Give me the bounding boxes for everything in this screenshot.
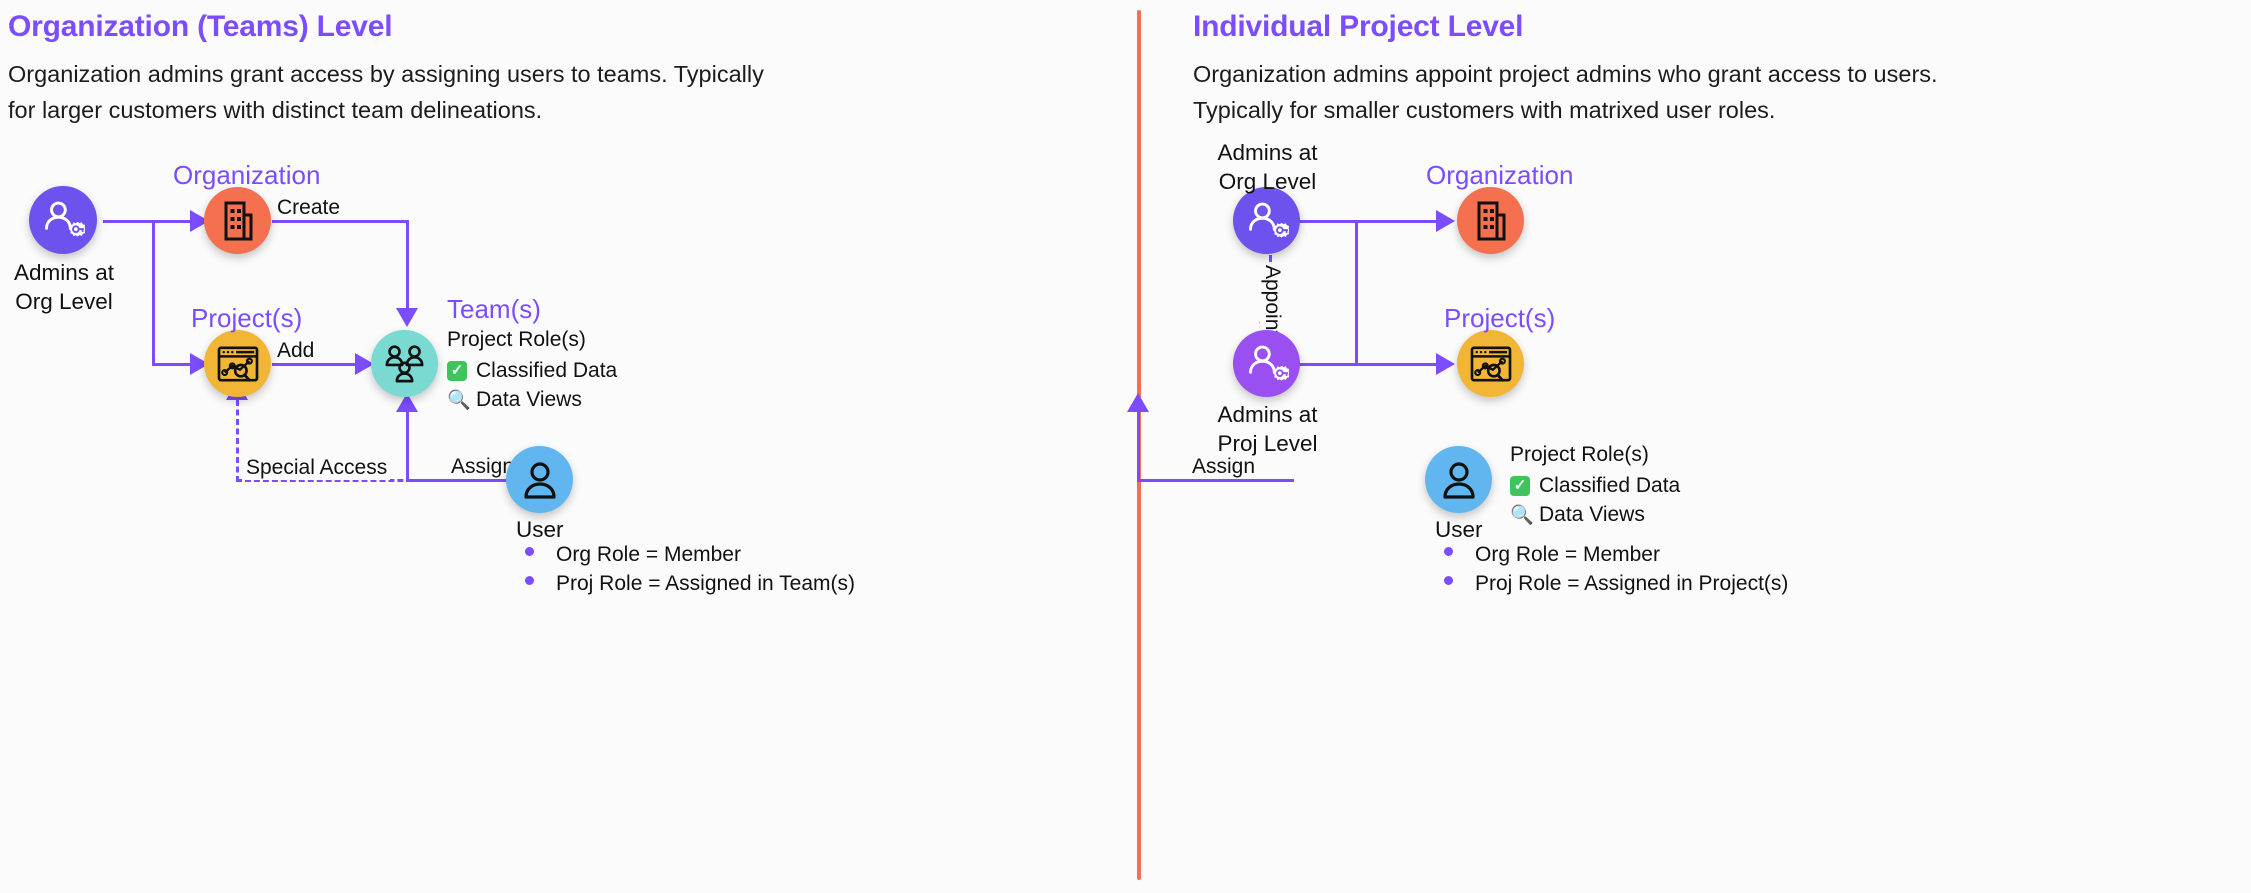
node-user[interactable]: [1425, 446, 1492, 513]
project-roles-title: Project Role(s): [447, 328, 617, 352]
bullet-org-role: Org Role = Member: [525, 543, 855, 567]
teams-project-roles: Project Role(s) ✓ Classified Data 🔍 Data…: [447, 328, 617, 417]
edge-label-special-access: Special Access: [243, 456, 390, 480]
user-bullets: Org Role = Member Proj Role = Assigned i…: [525, 543, 855, 601]
role-label: Data Views: [1539, 503, 1645, 527]
role-label: Classified Data: [476, 359, 617, 383]
edge-org-create-v: [406, 220, 409, 315]
arrow-trunk-to-project: [1436, 353, 1455, 375]
user-bullets: Org Role = Member Proj Role = Assigned i…: [1444, 543, 1788, 601]
node-admins-org-level[interactable]: [29, 186, 97, 254]
caption-admins-org-level: Admins at Org Level: [1175, 138, 1360, 196]
label-organization: Organization: [1426, 160, 1573, 191]
edge-special-access-v: [236, 400, 239, 482]
single-person-icon: [1441, 460, 1477, 500]
bullet-text: Proj Role = Assigned in Team(s): [556, 572, 855, 596]
admin-gear-key-icon: [1245, 342, 1289, 386]
bullet-dot-icon: [1444, 576, 1453, 585]
node-organization[interactable]: [204, 187, 271, 254]
edge-admin-to-org: [152, 220, 195, 223]
left-panel-description: Organization admins grant access by assi…: [8, 56, 1098, 128]
role-row-classified-data: ✓ Classified Data: [447, 359, 617, 383]
individual-project-panel: Individual Project Level Organization ad…: [1185, 0, 2251, 893]
edge-projadmin-to-project: [1288, 363, 1443, 366]
role-label: Classified Data: [1539, 474, 1680, 498]
arrow-assign-to-project: [1127, 393, 1149, 412]
node-user[interactable]: [506, 446, 573, 513]
bullet-dot-icon: [525, 576, 534, 585]
caption-admins-org-level: Admins at Org Level: [0, 258, 128, 316]
left-panel-title: Organization (Teams) Level: [8, 10, 392, 44]
node-projects[interactable]: [1457, 330, 1524, 397]
edge-orgadmin-trunk: [1288, 220, 1438, 223]
green-check-icon: ✓: [1510, 476, 1530, 496]
right-panel-title: Individual Project Level: [1193, 10, 1523, 44]
edge-label-add: Add: [274, 339, 317, 363]
node-admins-proj-level[interactable]: [1233, 330, 1300, 397]
building-icon: [1473, 201, 1509, 241]
bullet-text: Org Role = Member: [556, 543, 741, 567]
diagram-canvas: Organization (Teams) Level Organization …: [0, 0, 2251, 893]
role-row-data-views: 🔍 Data Views: [1510, 503, 1680, 527]
caption-admins-proj-level: Admins at Proj Level: [1175, 400, 1360, 458]
bullet-proj-role: Proj Role = Assigned in Project(s): [1444, 572, 1788, 596]
organization-teams-panel: Organization (Teams) Level Organization …: [0, 0, 1137, 893]
edge-user-assign-v: [406, 412, 409, 482]
bullet-text: Org Role = Member: [1475, 543, 1660, 567]
project-analytics-icon: [216, 345, 260, 383]
single-person-icon: [522, 460, 558, 500]
admin-gear-key-icon: [1245, 199, 1289, 243]
project-roles-title: Project Role(s): [1510, 443, 1680, 467]
user-project-roles: Project Role(s) ✓ Classified Data 🔍 Data…: [1510, 443, 1680, 532]
edge-label-appoint: Appoint: [1260, 262, 1284, 339]
green-check-icon: ✓: [447, 361, 467, 381]
arrow-orgadmin-to-org: [1436, 210, 1455, 232]
node-admins-org-level[interactable]: [1233, 187, 1300, 254]
edge-admin-to-project: [152, 363, 195, 366]
role-label: Data Views: [476, 388, 582, 412]
edge-user-assign-h: [1137, 479, 1294, 482]
bullet-proj-role: Proj Role = Assigned in Team(s): [525, 572, 855, 596]
node-teams[interactable]: [371, 330, 438, 397]
bullet-org-role: Org Role = Member: [1444, 543, 1788, 567]
node-organization[interactable]: [1457, 187, 1524, 254]
edge-orgadmin-vertical: [1355, 220, 1358, 363]
three-people-icon: [383, 344, 427, 384]
bullet-text: Proj Role = Assigned in Project(s): [1475, 572, 1788, 596]
right-panel-description: Organization admins appoint project admi…: [1193, 56, 2243, 128]
edge-label-assign: Assign: [1189, 455, 1258, 479]
edge-admin-vertical: [152, 220, 155, 363]
edge-project-add: [272, 363, 360, 366]
role-row-classified-data: ✓ Classified Data: [1510, 474, 1680, 498]
building-icon: [220, 201, 256, 241]
admin-gear-key-icon: [41, 198, 85, 242]
edge-org-create-h: [272, 220, 409, 223]
caption-user: User: [516, 517, 564, 543]
label-teams: Team(s): [447, 294, 541, 325]
bullet-dot-icon: [1444, 547, 1453, 556]
label-organization: Organization: [173, 160, 320, 191]
node-projects[interactable]: [204, 330, 271, 397]
magnifier-icon: 🔍: [1510, 503, 1530, 527]
magnifier-icon: 🔍: [447, 388, 467, 412]
role-row-data-views: 🔍 Data Views: [447, 388, 617, 412]
edge-user-assign-v: [1137, 412, 1140, 482]
project-analytics-icon: [1469, 345, 1513, 383]
caption-user: User: [1435, 517, 1483, 543]
arrow-create-to-teams: [396, 308, 418, 327]
bullet-dot-icon: [525, 547, 534, 556]
label-projects: Project(s): [191, 303, 302, 334]
edge-label-create: Create: [274, 196, 343, 220]
label-projects: Project(s): [1444, 303, 1555, 334]
